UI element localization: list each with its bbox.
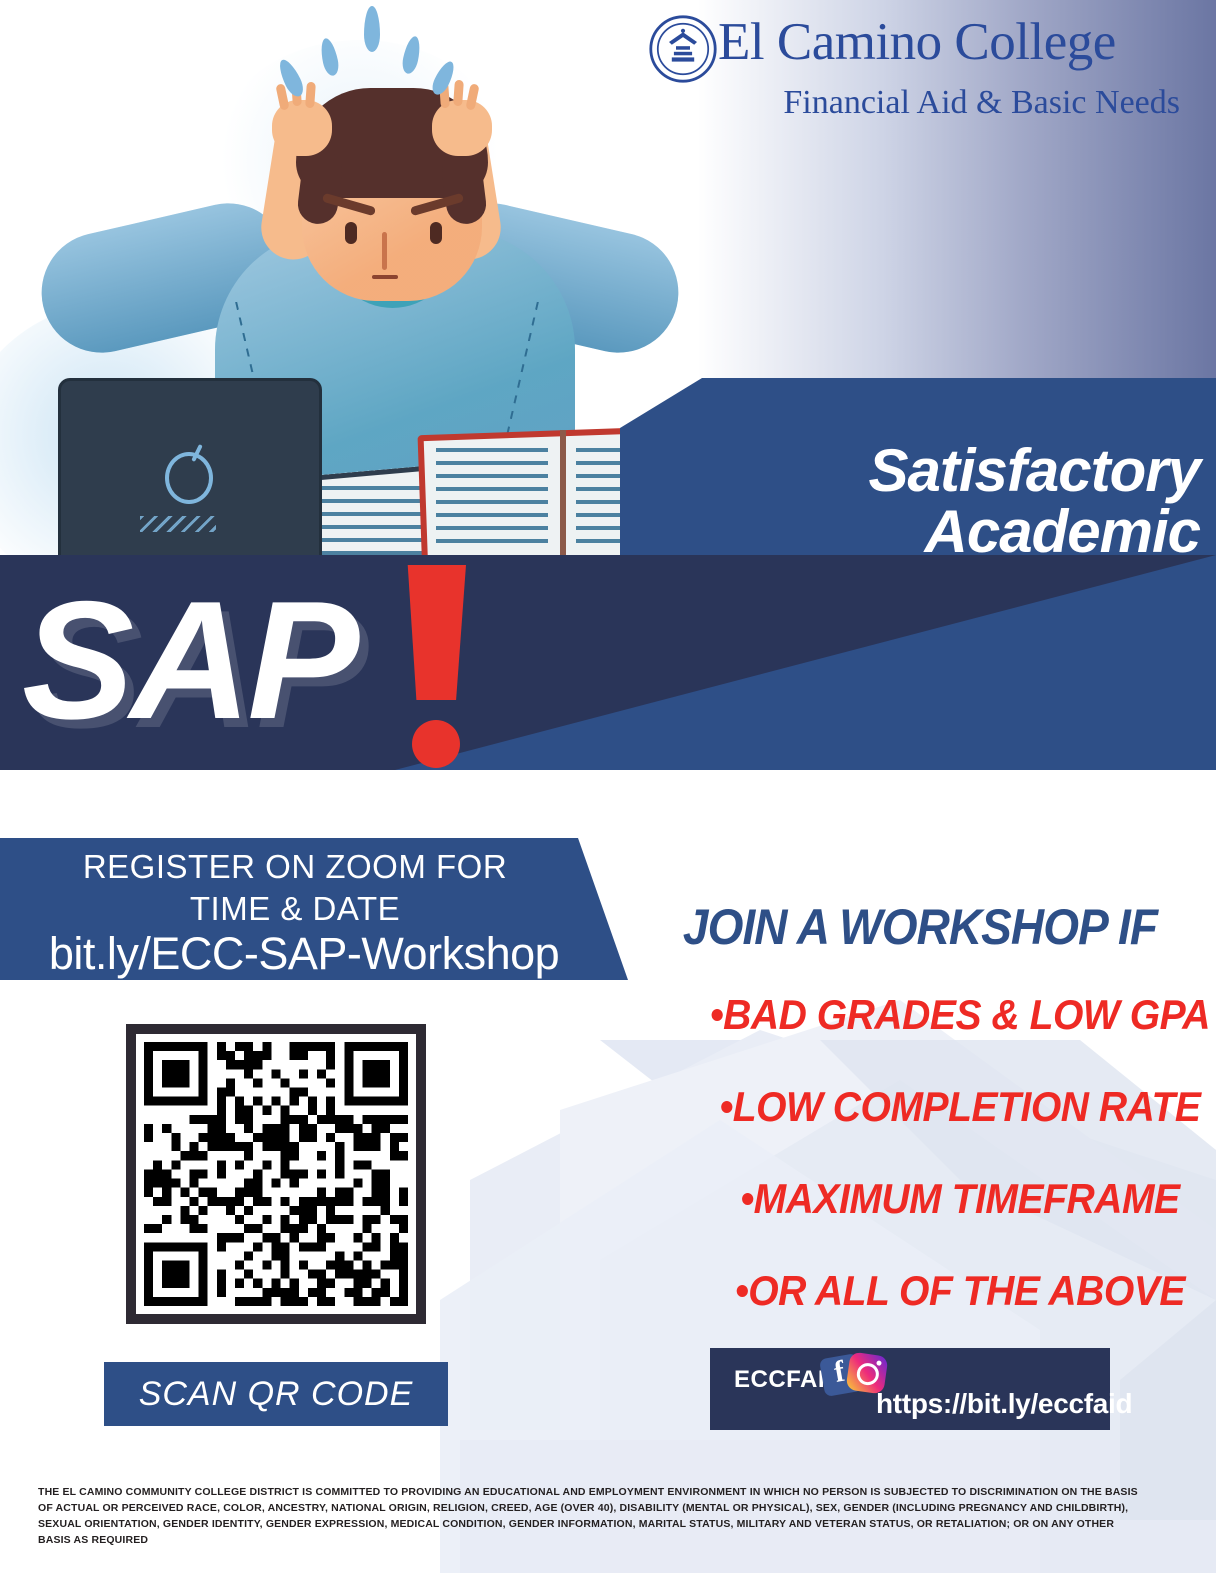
title-line-2: Academic bbox=[640, 501, 1200, 562]
title-line-1: Satisfactory bbox=[640, 440, 1200, 501]
hand-right bbox=[432, 100, 492, 156]
flyer-poster: El Camino College Financial Aid & Basic … bbox=[0, 0, 1216, 1573]
join-criteria-list: •BAD GRADES & LOW GPA •LOW COMPLETION RA… bbox=[640, 991, 1216, 1359]
exclamation-dot-icon bbox=[412, 720, 460, 768]
list-item: •OR ALL OF THE ABOVE bbox=[700, 1267, 1216, 1315]
college-name: El Camino College bbox=[718, 12, 1188, 72]
register-line-1: REGISTER ON ZOOM FOR bbox=[10, 848, 580, 886]
department-name: Financial Aid & Basic Needs bbox=[700, 84, 1180, 122]
scan-qr-code-label: SCAN QR CODE bbox=[104, 1362, 448, 1426]
scan-qr-code-text: SCAN QR CODE bbox=[139, 1375, 414, 1414]
register-line-2: TIME & DATE bbox=[10, 890, 580, 928]
join-workshop-heading: JOIN A WORKSHOP IF bbox=[662, 898, 1177, 956]
social-url[interactable]: https://bit.ly/eccfaid bbox=[876, 1388, 1132, 1420]
sweat-drop-icon bbox=[364, 6, 380, 52]
stressed-student-illustration bbox=[0, 0, 720, 575]
qr-code[interactable] bbox=[126, 1024, 426, 1324]
sap-acronym: SAP bbox=[22, 560, 355, 760]
register-url[interactable]: bit.ly/ECC-SAP-Workshop bbox=[8, 928, 600, 980]
college-seal-icon bbox=[648, 14, 718, 84]
nondiscrimination-statement: THE EL CAMINO COMMUNITY COLLEGE DISTRICT… bbox=[38, 1484, 1148, 1548]
list-item: •LOW COMPLETION RATE bbox=[700, 1083, 1216, 1131]
laptop-logo-icon bbox=[165, 452, 213, 504]
laptop-squiggle-icon bbox=[140, 516, 216, 532]
list-item: •MAXIMUM TIMEFRAME bbox=[700, 1175, 1216, 1223]
list-item: •BAD GRADES & LOW GPA bbox=[700, 991, 1216, 1039]
